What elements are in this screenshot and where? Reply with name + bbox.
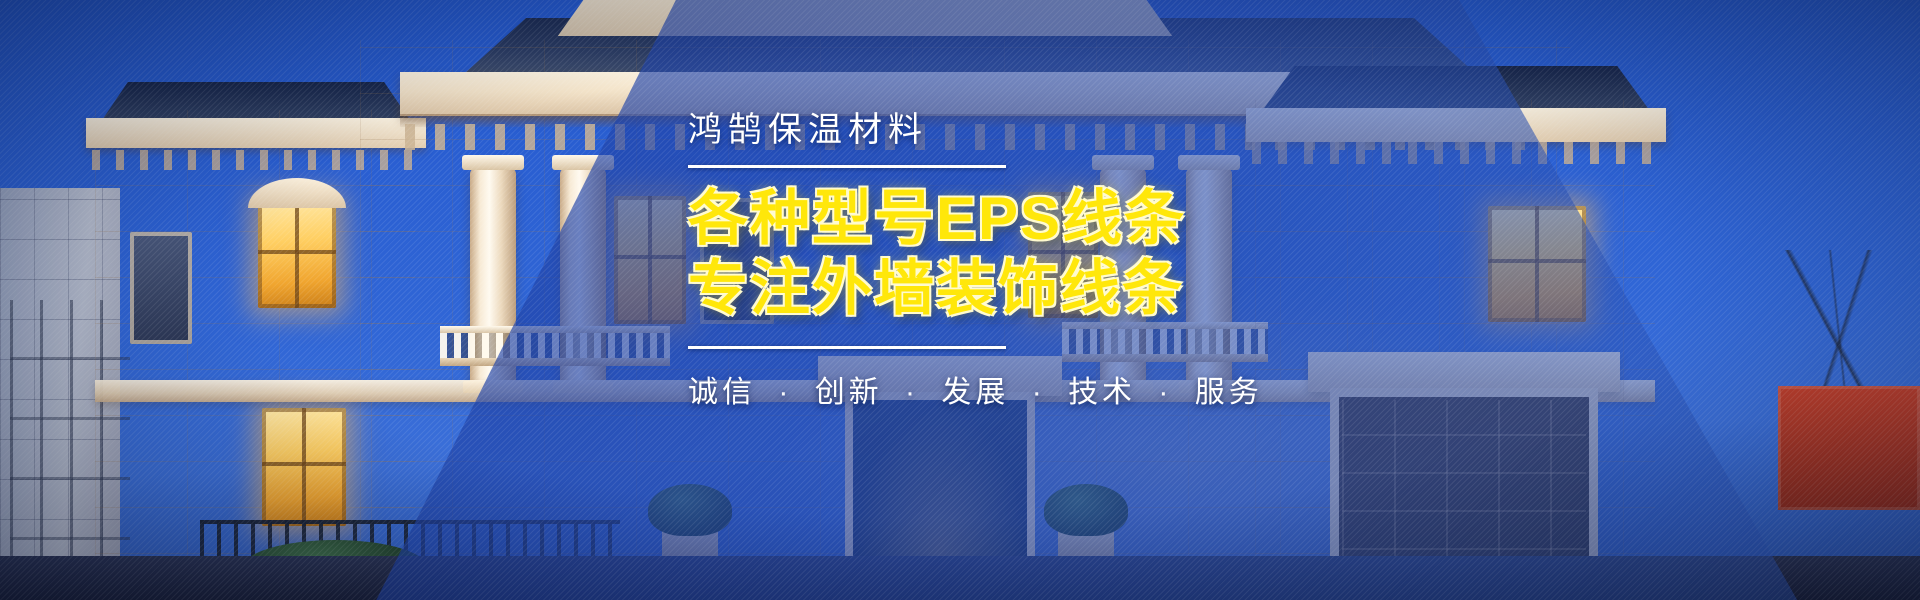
red-container <box>1778 386 1920 510</box>
tagline: 诚信 · 创新 · 发展 · 技术 · 服务 <box>688 367 1528 411</box>
tagline-item-2: 发展 <box>941 376 1009 409</box>
tagline-separator-2: · <box>1032 376 1046 409</box>
tagline-item-4: 服务 <box>1195 376 1263 409</box>
window-mullion-vertical <box>302 408 306 526</box>
window-mullion-horizontal <box>258 250 336 254</box>
window-dark-left <box>130 232 192 344</box>
banner-copy-block: 鸿鹄保温材料 各种型号EPS线条 专注外墙装饰线条 诚信 · 创新 · 发展 ·… <box>688 112 1528 411</box>
window-mullion-vertical <box>295 200 299 308</box>
tagline-item-3: 技术 <box>1068 376 1136 409</box>
window-lit-left-lower <box>262 408 346 526</box>
window-mullion-horizontal <box>262 462 346 466</box>
divider-rule-bottom <box>688 346 1006 349</box>
headline-line-2: 专注外墙装饰线条 <box>688 254 1528 324</box>
headline-line-1: 各种型号EPS线条 <box>688 184 1528 254</box>
tagline-separator-3: · <box>1158 376 1172 409</box>
divider-rule-top <box>688 165 1006 168</box>
tagline-item-1: 创新 <box>815 376 883 409</box>
promo-banner: 鸿鹄保温材料 各种型号EPS线条 专注外墙装饰线条 诚信 · 创新 · 发展 ·… <box>0 0 1920 600</box>
brand-eyebrow: 鸿鹄保温材料 <box>688 112 1528 149</box>
tagline-item-0: 诚信 <box>688 376 756 409</box>
tagline-separator-0: · <box>778 376 792 409</box>
tagline-separator-1: · <box>905 376 919 409</box>
window-lit-left-upper <box>258 200 336 308</box>
